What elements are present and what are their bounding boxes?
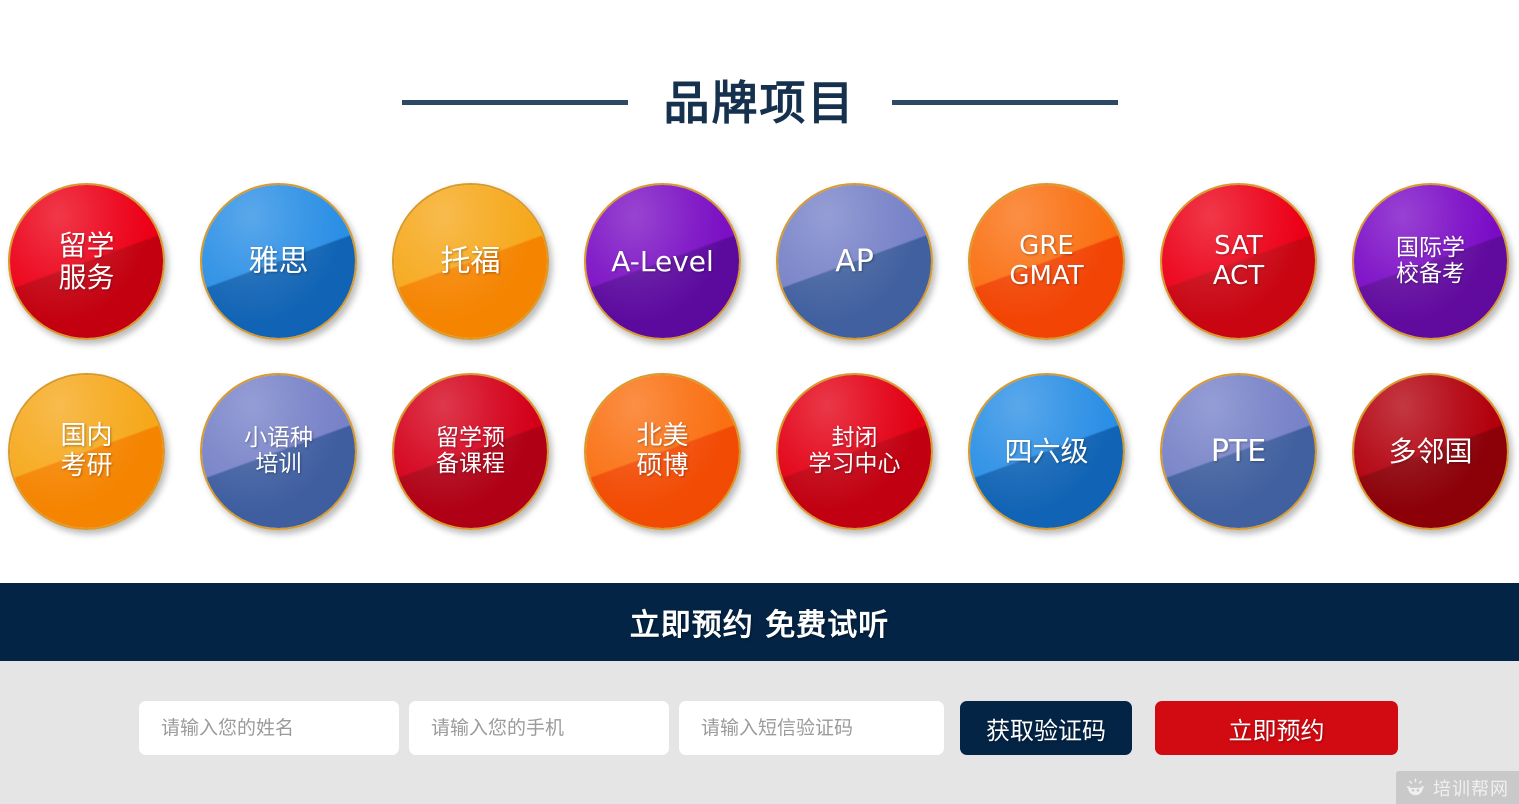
program-circle[interactable]: A-Level — [584, 183, 741, 340]
booking-form-strip: 获取验证码 立即预约 — [0, 661, 1519, 804]
program-circle[interactable]: 多邻国 — [1352, 373, 1509, 530]
program-row-1: 留学 服务雅思托福A-LevelAPGRE GMATSAT ACT国际学 校备考 — [8, 183, 1512, 340]
program-circle-label: 托福 — [435, 245, 507, 279]
program-circle[interactable]: 北美 硕博 — [584, 373, 741, 530]
program-circle[interactable]: 托福 — [392, 183, 549, 340]
program-circle[interactable]: GRE GMAT — [968, 183, 1125, 340]
program-circle-label: PTE — [1205, 435, 1272, 469]
program-circle[interactable]: PTE — [1160, 373, 1317, 530]
program-circle[interactable]: 四六级 — [968, 373, 1125, 530]
cta-banner: 立即预约 免费试听 — [0, 583, 1519, 661]
submit-booking-button[interactable]: 立即预约 — [1155, 701, 1398, 755]
program-circle-label: SAT ACT — [1207, 232, 1270, 290]
program-circle-label: AP — [829, 245, 880, 279]
watermark-label: 培训帮网 — [1433, 775, 1509, 801]
cta-banner-title: 立即预约 免费试听 — [630, 600, 889, 644]
program-circle[interactable]: 留学预 备课程 — [392, 373, 549, 530]
get-verification-code-button[interactable]: 获取验证码 — [960, 701, 1132, 755]
heading-rule-left — [402, 100, 628, 105]
program-circle-label: 留学 服务 — [52, 230, 120, 293]
heading-rule-right — [892, 100, 1118, 105]
program-circle[interactable]: 封闭 学习中心 — [776, 373, 933, 530]
program-circle-label: 北美 硕博 — [630, 422, 694, 480]
program-circle[interactable]: 国内 考研 — [8, 373, 165, 530]
program-row-2: 国内 考研小语种 培训留学预 备课程北美 硕博封闭 学习中心四六级PTE多邻国 — [8, 373, 1512, 530]
program-circle-label: 小语种 培训 — [238, 426, 319, 478]
program-circle-label: 多邻国 — [1382, 436, 1478, 467]
program-circle[interactable]: 留学 服务 — [8, 183, 165, 340]
program-circle[interactable]: 小语种 培训 — [200, 373, 357, 530]
phone-input[interactable] — [409, 701, 669, 755]
program-circle-label: 封闭 学习中心 — [803, 426, 907, 478]
program-circle[interactable]: 雅思 — [200, 183, 357, 340]
program-circle[interactable]: AP — [776, 183, 933, 340]
name-input[interactable] — [139, 701, 399, 755]
program-grid: 留学 服务雅思托福A-LevelAPGRE GMATSAT ACT国际学 校备考… — [8, 183, 1512, 530]
program-circle-label: 雅思 — [243, 245, 315, 279]
section-heading: 品牌项目 — [0, 60, 1519, 145]
program-circle-label: 四六级 — [998, 436, 1094, 467]
program-circle-label: 留学预 备课程 — [430, 426, 511, 478]
verification-code-input[interactable] — [679, 701, 944, 755]
booking-form: 获取验证码 立即预约 — [139, 701, 1398, 755]
program-circle-label: A-Level — [605, 246, 720, 277]
program-circle-label: GRE GMAT — [1003, 232, 1089, 290]
program-circle-label: 国内 考研 — [54, 422, 118, 480]
sun-face-icon — [1405, 777, 1426, 798]
page-title: 品牌项目 — [664, 80, 856, 126]
program-circle-label: 国际学 校备考 — [1390, 236, 1471, 288]
site-watermark: 培训帮网 — [1396, 771, 1519, 804]
program-circle[interactable]: SAT ACT — [1160, 183, 1317, 340]
program-circle[interactable]: 国际学 校备考 — [1352, 183, 1509, 340]
